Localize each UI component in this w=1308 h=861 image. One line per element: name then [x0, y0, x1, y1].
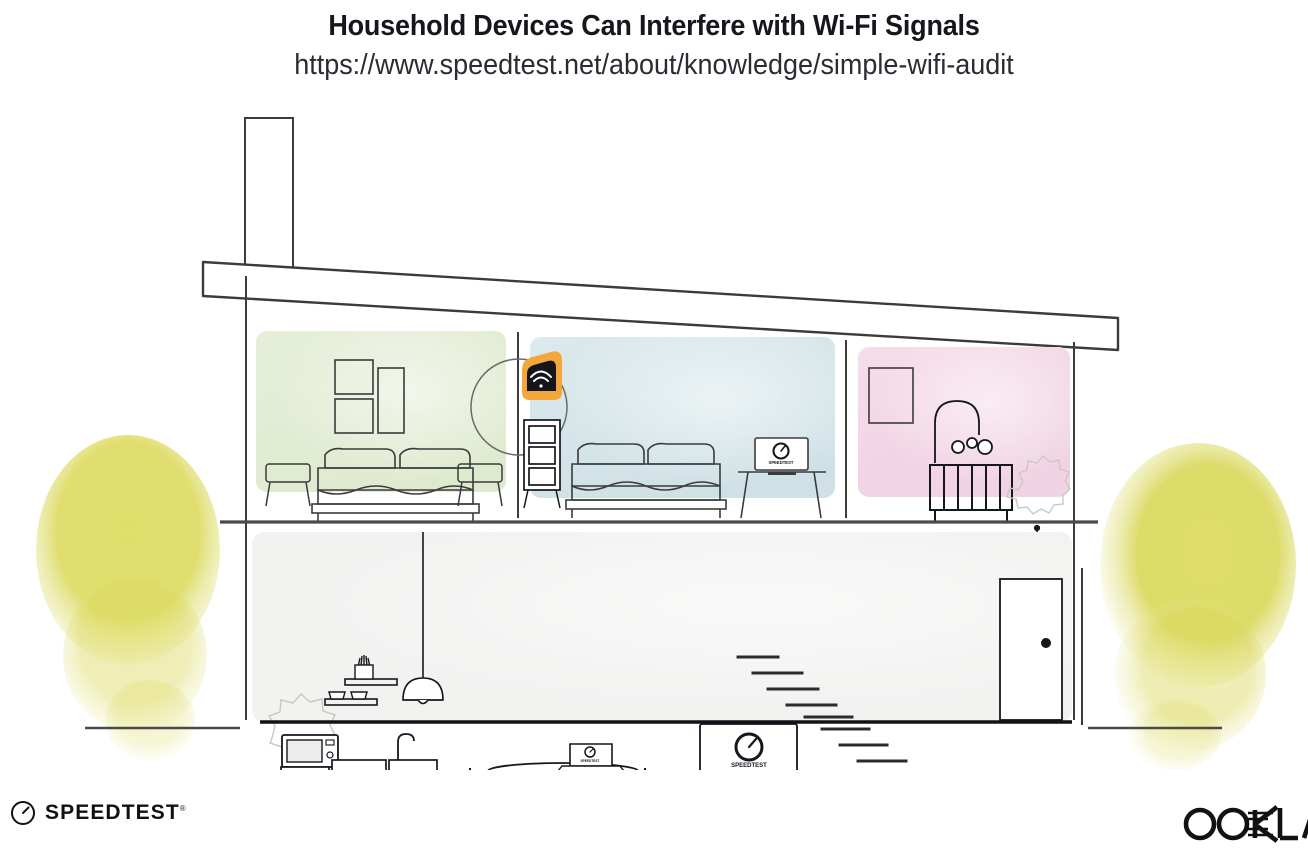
monitor-icon: SPEEDTEST — [755, 438, 808, 475]
door-knob-icon — [1041, 638, 1051, 648]
room-bedroom-blue: SPEEDTEST — [530, 337, 835, 518]
dining-set: SPEEDTEST — [470, 744, 645, 770]
footer: SPEEDTEST® — [0, 780, 1308, 861]
tv-icon[interactable]: SPEEDTEST — [700, 724, 797, 770]
monitor-screen-label: SPEEDTEST — [769, 460, 794, 465]
laptop-icon[interactable]: SPEEDTEST — [558, 744, 624, 770]
header: Household Devices Can Interfere with Wi-… — [0, 0, 1308, 84]
chimney — [245, 118, 293, 276]
page-title: Household Devices Can Interfere with Wi-… — [46, 8, 1262, 44]
laptop-screen-label: SPEEDTEST — [581, 759, 600, 763]
front-door[interactable] — [1000, 579, 1062, 720]
room-bedroom-green — [256, 331, 506, 522]
house-illustration: SPEEDTEST — [0, 110, 1308, 770]
wifi-router[interactable] — [522, 351, 562, 400]
ookla-swoosh — [1248, 813, 1273, 835]
infographic-page: Household Devices Can Interfere with Wi-… — [0, 0, 1308, 861]
trademark-symbol: ® — [180, 804, 186, 813]
tv-screen-label: SPEEDTEST — [731, 763, 767, 769]
microwave-icon[interactable] — [282, 735, 338, 767]
source-url: https://www.speedtest.net/about/knowledg… — [46, 47, 1262, 83]
ookla-logo — [1176, 802, 1308, 851]
dresser — [524, 420, 560, 490]
sink-faucet — [398, 734, 414, 760]
speedtest-logo: SPEEDTEST® — [10, 800, 186, 826]
speedtest-wordmark: SPEEDTEST® — [45, 801, 186, 825]
foliage-left — [36, 435, 220, 760]
foliage-right — [1100, 443, 1296, 770]
speedometer-icon — [10, 800, 36, 826]
